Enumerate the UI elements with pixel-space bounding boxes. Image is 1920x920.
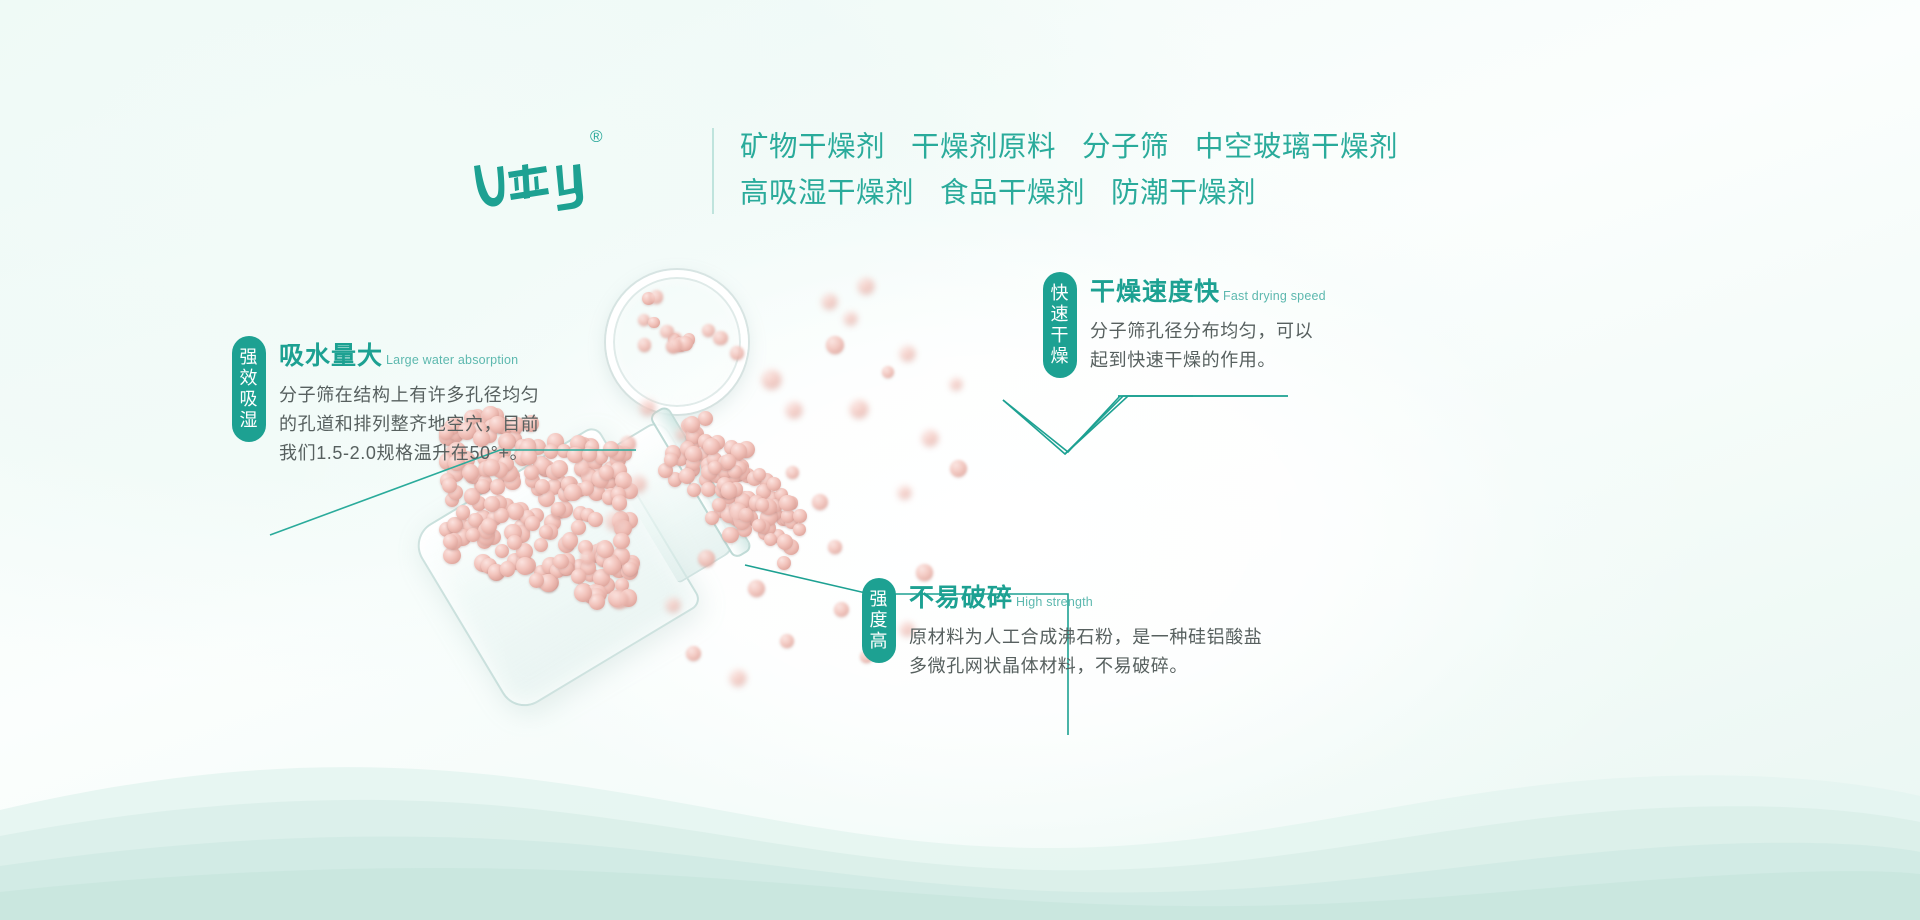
tag-char: 燥 (1043, 346, 1077, 367)
bead (599, 465, 614, 480)
bead (764, 533, 777, 546)
callout-large-water-absorption: 强 效 吸 湿 吸水量大 Large water absorption 分子筛在… (232, 336, 539, 468)
bead (950, 460, 967, 477)
callout-body: 分子筛在结构上有许多孔径均匀 的孔道和排列整齐地空穴，目前 我们1.5-2.0规… (279, 381, 539, 468)
header-divider (712, 128, 714, 214)
bead (722, 527, 738, 543)
bead (443, 534, 458, 549)
bead (571, 520, 586, 535)
callout-title: 吸水量大 (279, 336, 383, 372)
bead (730, 670, 746, 686)
bead (698, 411, 713, 426)
bead (812, 494, 828, 510)
bead (650, 290, 664, 304)
tag-char: 快 (1043, 283, 1077, 304)
bead (640, 400, 655, 415)
bead (822, 294, 837, 309)
registered-trademark-icon: ® (590, 128, 603, 145)
bead (544, 444, 558, 458)
bead (686, 646, 701, 661)
nav-item-desiccant-raw-material[interactable]: 干燥剂原料 (911, 124, 1056, 170)
callout-heading: 干燥速度快 Fast drying speed (1090, 272, 1326, 308)
bead (666, 598, 680, 612)
callout-body: 原材料为人工合成沸石粉，是一种硅铝酸盐 多微孔网状晶体材料，不易破碎。 (909, 623, 1262, 681)
bead (898, 486, 911, 499)
bead (603, 441, 619, 457)
header-keyword-nav: 矿物干燥剂 干燥剂原料 分子筛 中空玻璃干燥剂 高吸湿干燥剂 食品干燥剂 防潮干… (740, 124, 1500, 216)
bead (730, 346, 744, 360)
callout-title: 干燥速度快 (1090, 272, 1220, 308)
bead (456, 505, 471, 520)
bead (786, 466, 799, 479)
callout-subtitle: Large water absorption (386, 353, 518, 367)
bead (507, 503, 524, 520)
bead (442, 478, 457, 493)
bead (613, 533, 629, 549)
bead (752, 519, 765, 532)
nav-item-molecular-sieve[interactable]: 分子筛 (1082, 124, 1169, 170)
bead (826, 336, 844, 354)
yaao-logo-icon (470, 132, 590, 216)
bead (712, 498, 726, 512)
bead (777, 534, 793, 550)
bead (721, 454, 736, 469)
nav-row-2: 高吸湿干燥剂 食品干燥剂 防潮干燥剂 (740, 170, 1500, 216)
bead (777, 556, 791, 570)
bead (705, 511, 719, 525)
bead (698, 550, 715, 567)
bead (551, 502, 566, 517)
bead (484, 496, 500, 512)
bead (576, 462, 590, 476)
bead (551, 460, 568, 477)
bead (793, 509, 807, 523)
bead (762, 370, 781, 389)
callout-text-block: 干燥速度快 Fast drying speed 分子筛孔径分布均匀，可以 起到快… (1090, 272, 1326, 375)
callout-title: 不易破碎 (909, 578, 1013, 614)
brand-logo[interactable] (470, 132, 590, 216)
tag-char: 强 (862, 589, 896, 610)
bead (900, 346, 915, 361)
bead (748, 580, 765, 597)
bead (708, 461, 721, 474)
callout-body: 分子筛孔径分布均匀，可以 起到快速干燥的作用。 (1090, 317, 1326, 375)
tag-char: 度 (862, 610, 896, 631)
bead (780, 634, 794, 648)
bead (756, 498, 769, 511)
bead (466, 528, 480, 542)
bead (922, 430, 938, 446)
nav-item-food-desiccant[interactable]: 食品干燥剂 (940, 170, 1085, 216)
nav-item-high-moisture-absorption-desiccant[interactable]: 高吸湿干燥剂 (740, 170, 914, 216)
callout-subtitle: Fast drying speed (1223, 289, 1326, 303)
bead (793, 523, 806, 536)
bead (858, 278, 874, 294)
nav-item-mineral-desiccant[interactable]: 矿物干燥剂 (740, 124, 885, 170)
bead (580, 550, 595, 565)
bead (703, 438, 720, 455)
bead (779, 495, 796, 512)
bead (564, 484, 582, 502)
bead (834, 602, 849, 617)
tag-char: 速 (1043, 304, 1077, 325)
bead (648, 317, 660, 329)
bead (476, 479, 490, 493)
callout-high-strength: 强 度 高 不易破碎 High strength 原材料为人工合成沸石粉，是一种… (862, 578, 1262, 681)
bead (588, 512, 603, 527)
bead (844, 312, 857, 325)
tag-char: 高 (862, 631, 896, 652)
bead (448, 518, 462, 532)
tag-char: 干 (1043, 325, 1077, 346)
bead (664, 453, 678, 467)
callout-heading: 吸水量大 Large water absorption (279, 336, 539, 372)
tag-char: 效 (232, 368, 266, 389)
bead (850, 400, 868, 418)
nav-item-insulating-glass-desiccant[interactable]: 中空玻璃干燥剂 (1195, 124, 1398, 170)
nav-row-1: 矿物干燥剂 干燥剂原料 分子筛 中空玻璃干燥剂 (740, 124, 1500, 170)
bead (603, 557, 621, 575)
site-header: ® 矿物干燥剂 干燥剂原料 分子筛 中空玻璃干燥剂 高吸湿干燥剂 食品干燥剂 防… (0, 0, 1920, 250)
bead (610, 590, 629, 609)
callout-text-block: 不易破碎 High strength 原材料为人工合成沸石粉，是一种硅铝酸盐 多… (909, 578, 1262, 681)
bead (553, 554, 569, 570)
bead (612, 495, 628, 511)
tag-badge-fast-drying: 快 速 干 燥 (1043, 272, 1077, 378)
bead (567, 447, 583, 463)
bead (882, 366, 894, 378)
callout-text-block: 吸水量大 Large water absorption 分子筛在结构上有许多孔径… (279, 336, 539, 468)
banner-stage: ® 矿物干燥剂 干燥剂原料 分子筛 中空玻璃干燥剂 高吸湿干燥剂 食品干燥剂 防… (0, 0, 1920, 920)
bead (582, 447, 597, 462)
bead (534, 538, 548, 552)
bead (562, 532, 579, 549)
tag-char: 强 (232, 347, 266, 368)
bead (786, 402, 802, 418)
tag-char: 湿 (232, 410, 266, 431)
callout-heading: 不易破碎 High strength (909, 578, 1262, 614)
bead (606, 512, 624, 530)
bead (713, 331, 728, 346)
bead (623, 562, 637, 576)
bead (950, 378, 962, 390)
bead (571, 569, 586, 584)
callout-fast-drying-speed: 快 速 干 燥 干燥速度快 Fast drying speed 分子筛孔径分布均… (1043, 272, 1326, 378)
bead (620, 436, 636, 452)
bead (767, 477, 780, 490)
tag-char: 吸 (232, 389, 266, 410)
bead (828, 540, 842, 554)
bead (638, 338, 651, 351)
nav-item-moisture-proof-desiccant[interactable]: 防潮干燥剂 (1111, 170, 1256, 216)
tag-badge-high-strength: 强 度 高 (862, 578, 896, 663)
callout-subtitle: High strength (1016, 595, 1093, 609)
tag-badge-strong-moisture-absorption: 强 效 吸 湿 (232, 336, 266, 442)
bead (507, 535, 522, 550)
